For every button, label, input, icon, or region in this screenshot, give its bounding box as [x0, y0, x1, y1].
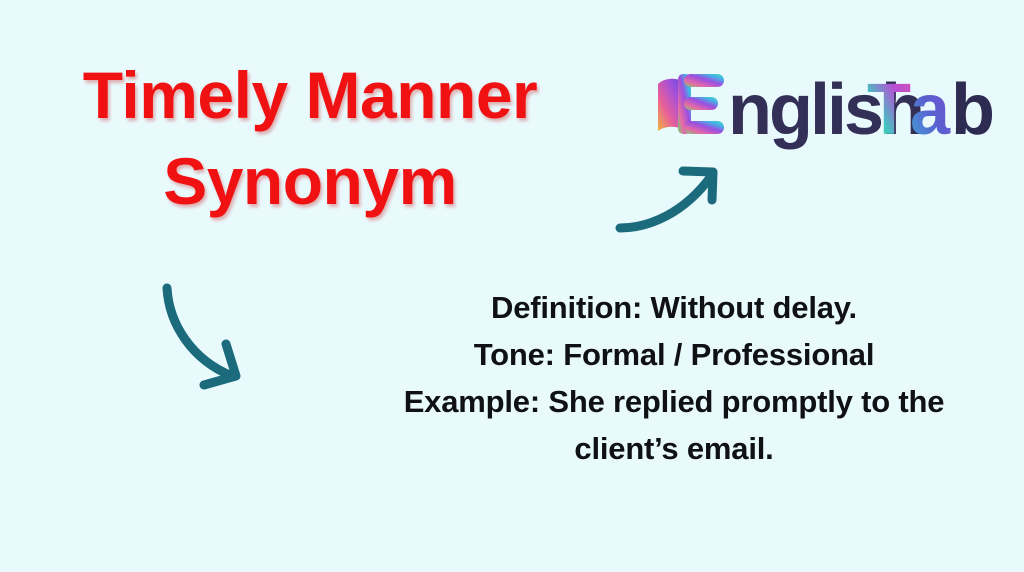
page-title-line-1: Timely Manner [20, 62, 600, 128]
curved-arrow-up-right-icon [612, 152, 732, 244]
svg-text:a: a [910, 70, 951, 150]
curved-arrow-down-right-icon [152, 268, 262, 393]
definition-block: Definition: Without delay. Tone: Formal … [364, 284, 984, 472]
tone-line: Tone: Formal / Professional [364, 331, 984, 378]
book-icon [658, 74, 724, 134]
slide-canvas: Timely Manner Synonym [0, 0, 1024, 572]
page-title-line-2: Synonym [20, 148, 600, 214]
page-title: Timely Manner Synonym [20, 62, 600, 214]
definition-line: Definition: Without delay. [364, 284, 984, 331]
example-line-1: Example: She replied promptly to the [364, 378, 984, 425]
svg-text:T: T [867, 70, 911, 150]
svg-text:b: b [951, 70, 993, 150]
englishtab-logo[interactable]: nglish T a b [648, 58, 1008, 150]
example-line-2: client’s email. [364, 425, 984, 472]
